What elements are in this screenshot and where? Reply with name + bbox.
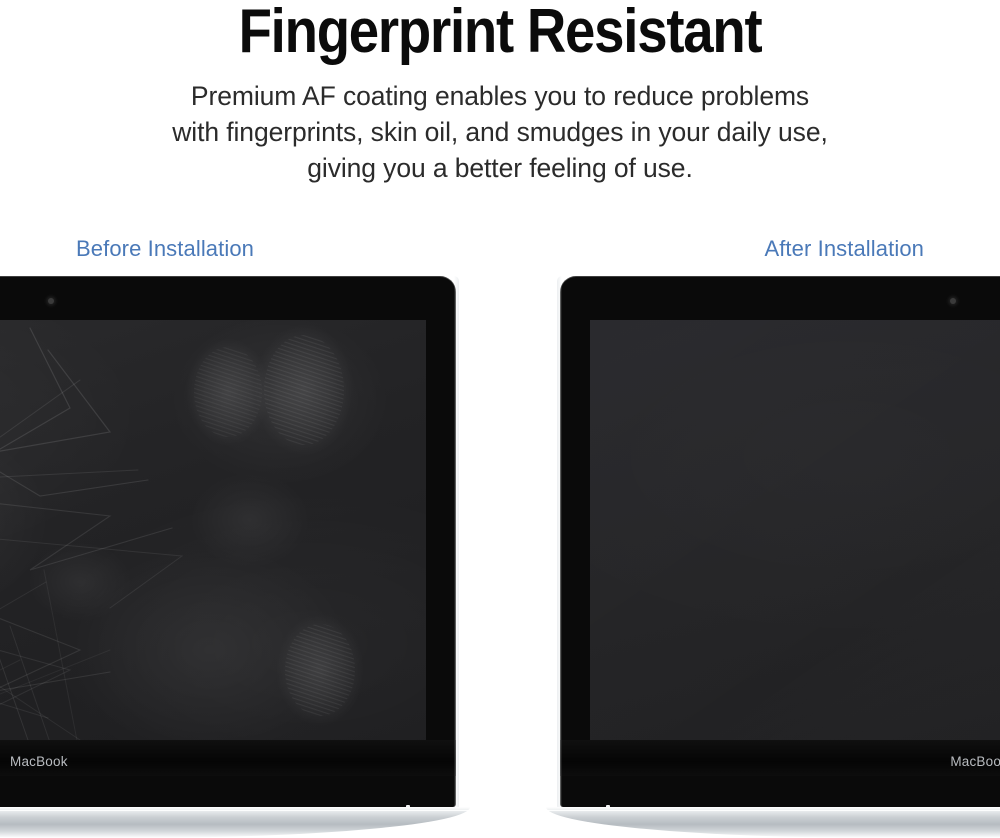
camera-icon — [48, 298, 54, 304]
lid-edge-highlight-before — [454, 276, 459, 807]
subtitle-line-3: giving you a better feeling of use. — [0, 150, 1000, 186]
laptop-base-after — [546, 807, 1000, 838]
page-title: Fingerprint Resistant — [60, 0, 940, 66]
laptop-lid-before: MacBook — [0, 276, 456, 807]
macbook-wordmark-after: MacBook — [950, 754, 1000, 769]
subtitle-line-2: with fingerprints, skin oil, and smudges… — [0, 114, 1000, 150]
page-subtitle: Premium AF coating enables you to reduce… — [0, 78, 1000, 186]
macbook-wordmark-before: MacBook — [10, 754, 68, 769]
comparison-stage: MacBook — [0, 276, 1000, 838]
laptop-before: MacBook — [0, 276, 456, 838]
after-installation-label: After Installation — [764, 236, 924, 262]
before-installation-label: Before Installation — [76, 236, 254, 262]
smudge-overlay — [0, 320, 426, 770]
lid-chin-before — [0, 740, 456, 776]
laptop-lid-after: MacBook — [560, 276, 1000, 807]
laptop-after: MacBook — [560, 276, 1000, 838]
lid-edge-highlight-after — [557, 276, 562, 807]
screen-before — [0, 320, 426, 770]
lid-chin-after — [560, 740, 1000, 776]
camera-icon — [950, 298, 956, 304]
clean-screen-sheen — [590, 320, 1000, 770]
screen-after — [590, 320, 1000, 770]
laptop-base-before — [0, 807, 470, 838]
subtitle-line-1: Premium AF coating enables you to reduce… — [0, 78, 1000, 114]
